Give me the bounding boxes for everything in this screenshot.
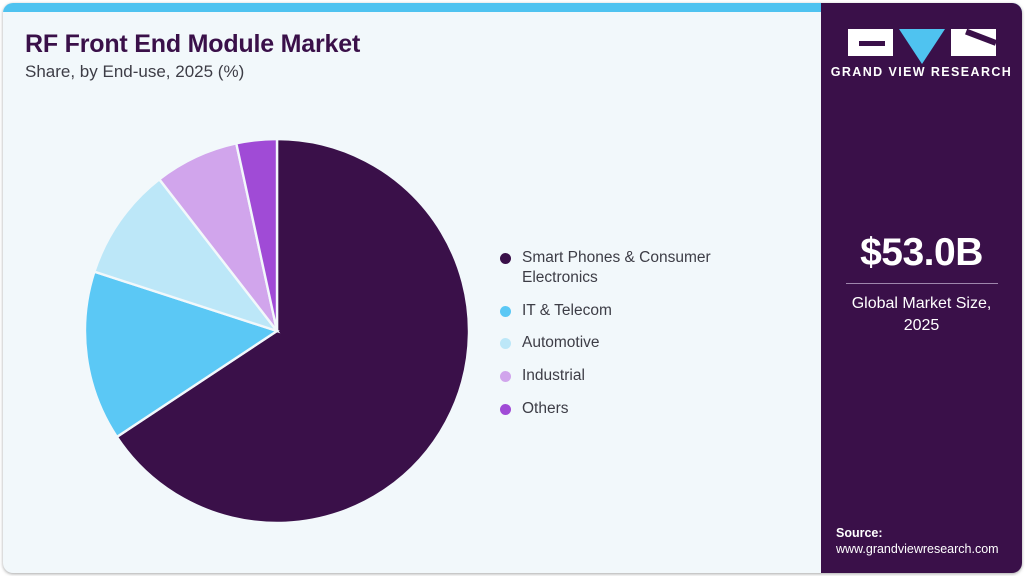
legend-item[interactable]: Smart Phones & Consumer Electronics — [500, 248, 790, 288]
legend-item-label: Others — [522, 399, 569, 419]
logo-letter-g-icon — [848, 29, 893, 56]
screenshot-canvas: RF Front End Module Market Share, by End… — [0, 0, 1025, 576]
stat-caption: Global Market Size, 2025 — [821, 293, 1022, 336]
legend-item-label: Industrial — [522, 366, 585, 386]
legend-color-swatch-icon — [500, 371, 511, 382]
legend-color-swatch-icon — [500, 338, 511, 349]
pie-chart — [83, 137, 471, 525]
stat-divider — [846, 283, 998, 284]
brand-logo: GRAND VIEW RESEARCH — [821, 29, 1022, 79]
legend-color-swatch-icon — [500, 404, 511, 415]
legend-color-swatch-icon — [500, 253, 511, 264]
legend-item-label: IT & Telecom — [522, 301, 612, 321]
legend-item[interactable]: Industrial — [500, 366, 790, 386]
legend-item[interactable]: IT & Telecom — [500, 301, 790, 321]
logo-wordmark: GRAND VIEW RESEARCH — [821, 65, 1022, 79]
source-url: www.grandviewresearch.com — [836, 542, 1014, 556]
infographic-card: RF Front End Module Market Share, by End… — [3, 3, 1022, 573]
page-subtitle: Share, by End-use, 2025 (%) — [25, 62, 244, 82]
market-size-stat: $53.0B Global Market Size, 2025 — [821, 231, 1022, 336]
legend-item-label: Smart Phones & Consumer Electronics — [522, 248, 754, 288]
legend-color-swatch-icon — [500, 306, 511, 317]
logo-letter-v-triangle-icon — [899, 29, 945, 64]
page-title: RF Front End Module Market — [25, 30, 360, 59]
chart-legend: Smart Phones & Consumer ElectronicsIT & … — [500, 248, 790, 432]
pie-chart-svg — [83, 137, 471, 525]
chart-area: RF Front End Module Market Share, by End… — [3, 12, 821, 573]
legend-item-label: Automotive — [522, 333, 600, 353]
brand-side-panel: GRAND VIEW RESEARCH $53.0B Global Market… — [821, 3, 1022, 573]
source-block: Source: www.grandviewresearch.com — [836, 526, 1014, 556]
logo-letter-r-icon — [951, 29, 996, 56]
logo-marks — [821, 29, 1022, 57]
stat-value: $53.0B — [821, 231, 1022, 275]
source-label: Source: — [836, 526, 1014, 540]
legend-item[interactable]: Others — [500, 399, 790, 419]
legend-item[interactable]: Automotive — [500, 333, 790, 353]
